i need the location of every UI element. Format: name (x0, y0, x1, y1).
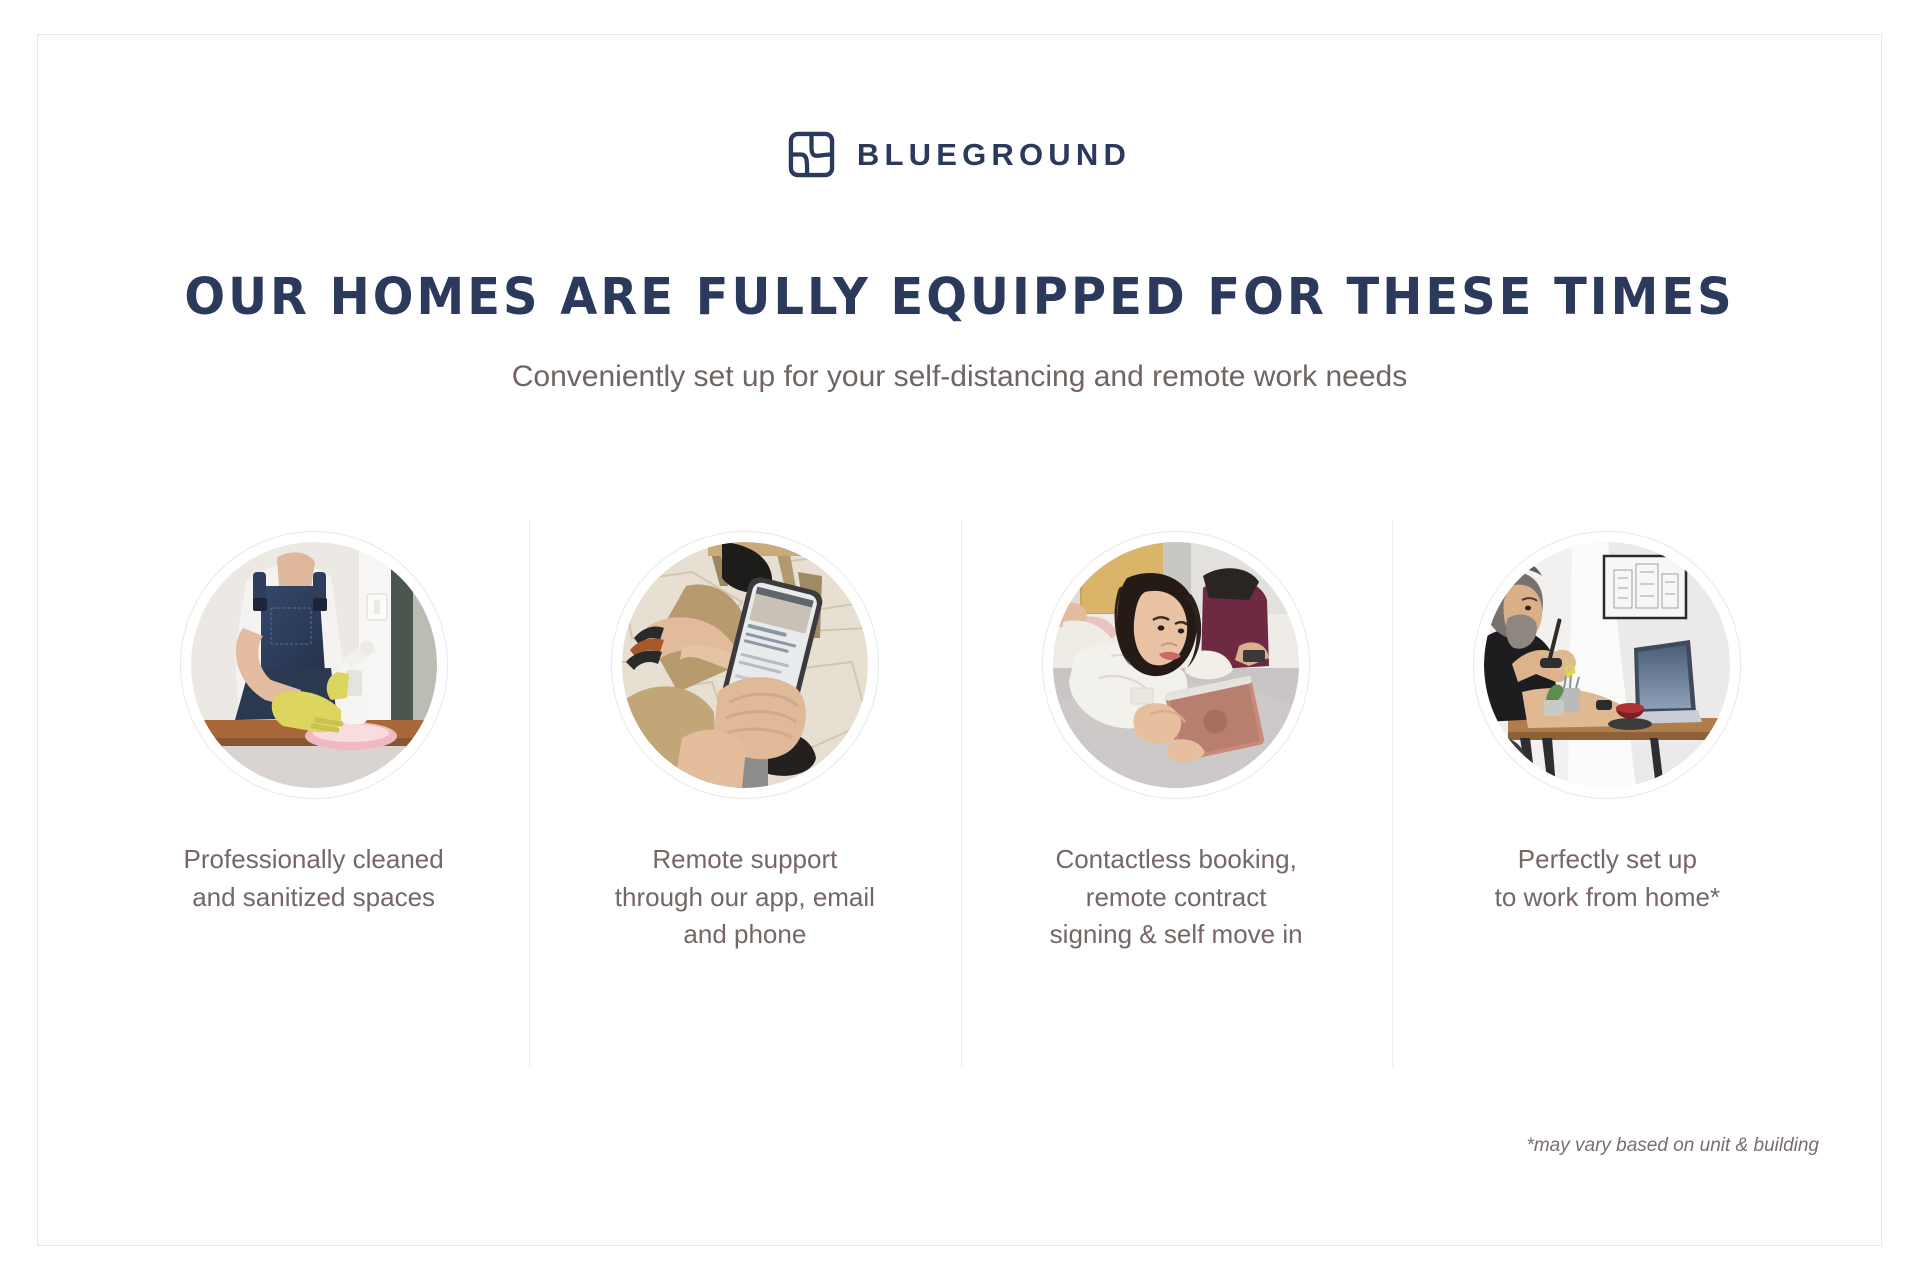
cleaner-sanitizing-surface-photo (191, 542, 437, 788)
caption-line: signing & self move in (1050, 916, 1303, 954)
feature-item-cleaning: Professionally cleaned and sanitized spa… (98, 519, 529, 1067)
feature-caption: Perfectly set up to work from home* (1495, 841, 1720, 916)
hands-using-phone-app-photo (622, 542, 868, 788)
feature-item-remote-support: Remote support through our app, email an… (529, 519, 960, 1067)
man-working-at-laptop-photo (1484, 542, 1730, 788)
photo-ring (611, 531, 879, 799)
page-subtitle: Conveniently set up for your self-distan… (38, 357, 1881, 396)
caption-line: through our app, email (615, 879, 875, 917)
feature-caption: Contactless booking, remote contract sig… (1050, 841, 1303, 954)
caption-line: to work from home* (1495, 879, 1720, 917)
caption-line: remote contract (1050, 879, 1303, 917)
woman-on-bed-with-tablet-photo (1053, 542, 1299, 788)
caption-line: Professionally cleaned (184, 841, 444, 879)
caption-line: Perfectly set up (1495, 841, 1720, 879)
feature-caption: Professionally cleaned and sanitized spa… (184, 841, 444, 916)
feature-caption: Remote support through our app, email an… (615, 841, 875, 954)
caption-line: Remote support (615, 841, 875, 879)
photo-ring (1042, 531, 1310, 799)
caption-line: and phone (615, 916, 875, 954)
feature-list: Professionally cleaned and sanitized spa… (98, 519, 1823, 1067)
caption-line: and sanitized spaces (184, 879, 444, 917)
brand-header: BLUEGROUND (38, 131, 1881, 178)
feature-item-contactless-booking: Contactless booking, remote contract sig… (961, 519, 1392, 1067)
photo-ring (1473, 531, 1741, 799)
caption-line: Contactless booking, (1050, 841, 1303, 879)
blueground-square-icon (788, 131, 835, 178)
photo-ring (180, 531, 448, 799)
page-title: OUR HOMES ARE FULLY EQUIPPED FOR THESE T… (93, 271, 1825, 325)
footnote-disclaimer: *may vary based on unit & building (1526, 1135, 1819, 1157)
feature-item-work-from-home: Perfectly set up to work from home* (1392, 519, 1823, 1067)
infographic-card: BLUEGROUND OUR HOMES ARE FULLY EQUIPPED … (37, 34, 1882, 1246)
brand-wordmark: BLUEGROUND (857, 139, 1131, 170)
